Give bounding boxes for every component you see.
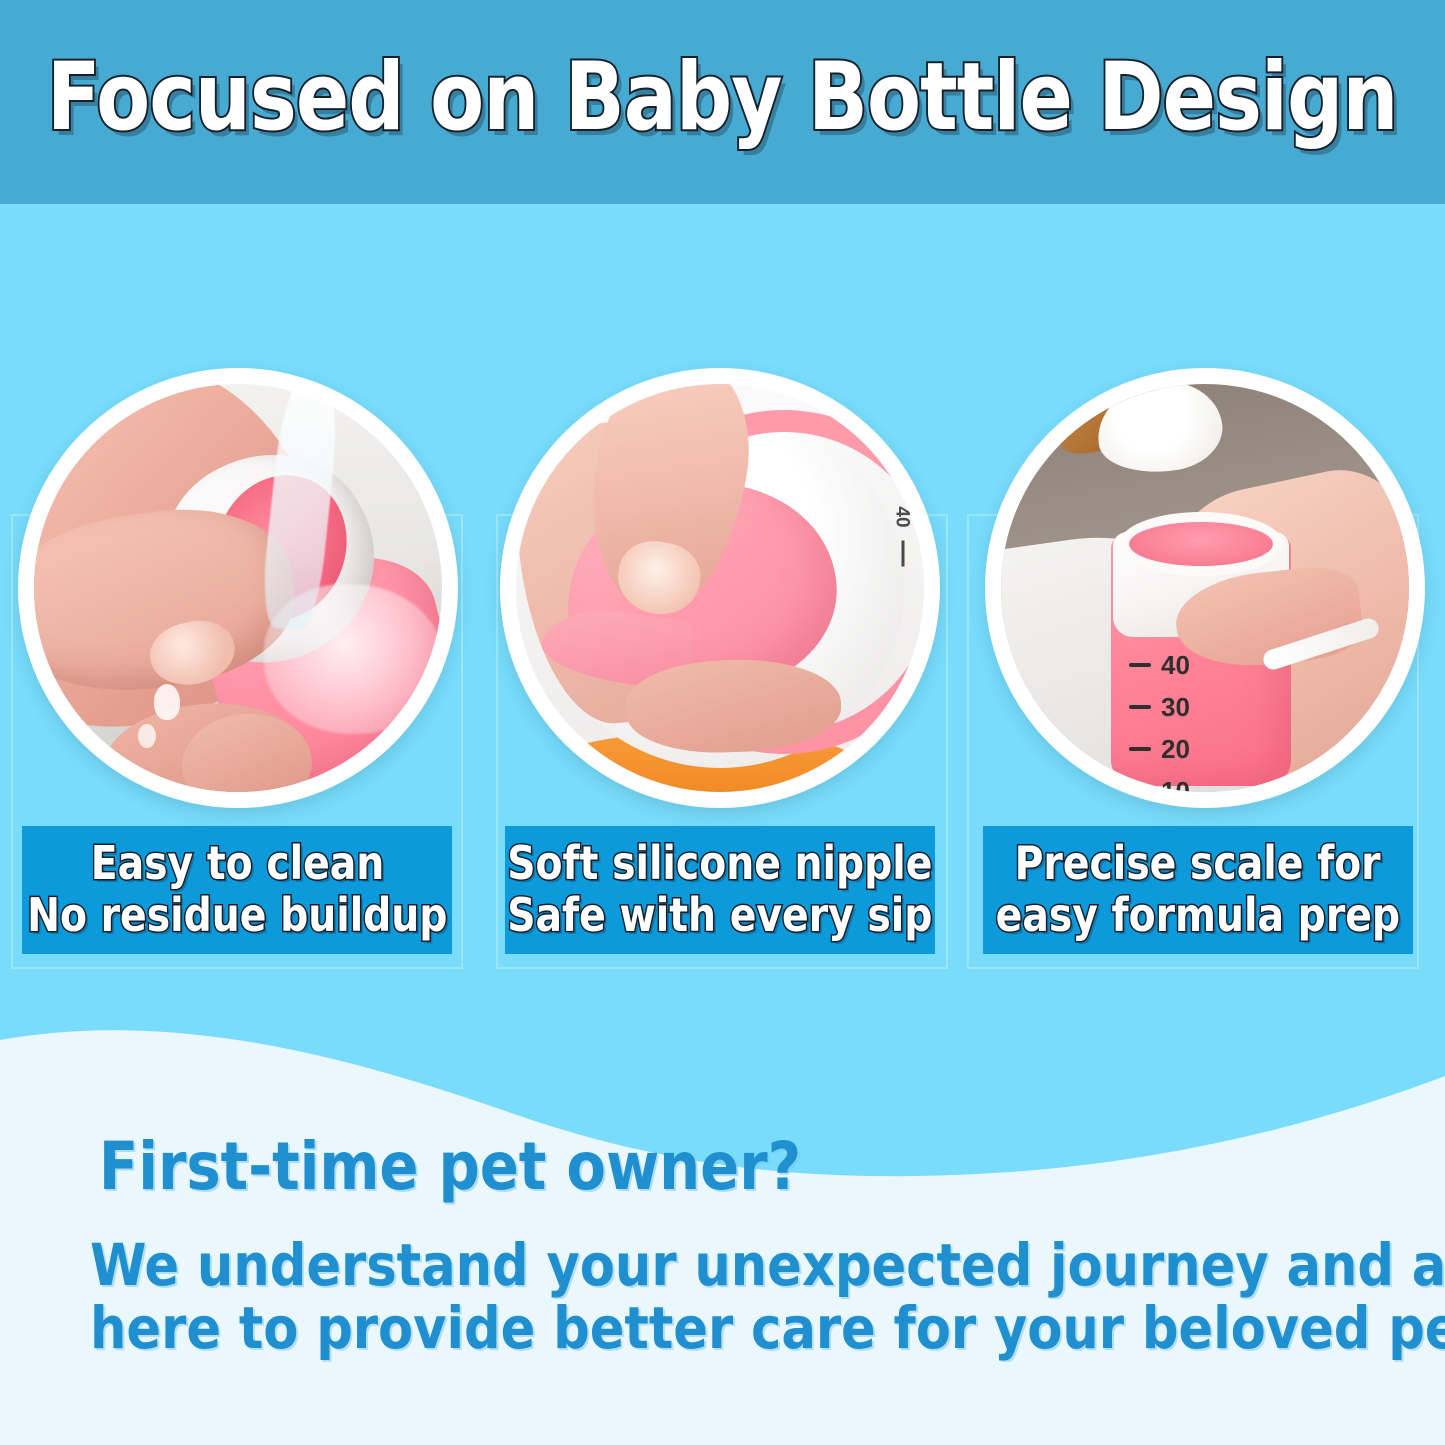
feature-caption-3: Precise scale for easy formula prep bbox=[983, 826, 1413, 954]
scale-value: 10 bbox=[1161, 778, 1190, 792]
caption-line-1: Soft silicone nipple bbox=[507, 838, 932, 890]
measurement-scale: 40 30 20 10 bbox=[1129, 652, 1190, 792]
feature-photo-2: 40 bbox=[500, 368, 940, 808]
ring-tick-mark bbox=[902, 541, 905, 567]
feature-photo-1-image bbox=[34, 384, 442, 792]
feature-photo-1 bbox=[18, 368, 458, 808]
feature-photo-3: 40 30 20 10 bbox=[985, 368, 1425, 808]
water-drop-1 bbox=[154, 684, 180, 720]
bottle-rim bbox=[1119, 512, 1283, 576]
caption-line-1: Precise scale for bbox=[1015, 838, 1381, 890]
product-infographic: Focused on Baby Bottle Design bbox=[0, 0, 1445, 1445]
water-drop-2 bbox=[138, 724, 156, 748]
scale-value: 20 bbox=[1161, 736, 1190, 762]
bottom-message: First-time pet owner? We understand your… bbox=[0, 1000, 1445, 1445]
scale-tick-icon bbox=[1129, 747, 1151, 751]
scale-value: 40 bbox=[1161, 652, 1190, 678]
scale-tick-icon bbox=[1129, 705, 1151, 709]
bottom-heading: First-time pet owner? bbox=[99, 1134, 801, 1200]
caption-line-1: Easy to clean bbox=[90, 838, 384, 890]
caption-line-2: Safe with every sip bbox=[507, 890, 932, 942]
scale-value: 30 bbox=[1161, 694, 1190, 720]
feature-caption-2: Soft silicone nipple Safe with every sip bbox=[505, 826, 935, 954]
scale-row: 20 bbox=[1129, 736, 1190, 762]
caption-line-2: No residue buildup bbox=[27, 890, 447, 942]
caption-line-2: easy formula prep bbox=[996, 890, 1400, 942]
scale-tick-icon bbox=[1129, 789, 1151, 792]
bottom-body-line-2: here to provide better care for your bel… bbox=[90, 1297, 1335, 1360]
scale-tick-icon bbox=[1129, 663, 1151, 667]
scale-row: 40 bbox=[1129, 652, 1190, 678]
ring-mark-label: 40 bbox=[890, 506, 912, 527]
bottom-body: We understand your unexpected journey an… bbox=[90, 1234, 1360, 1359]
feature-photo-2-image: 40 bbox=[516, 384, 924, 792]
bottom-body-line-1: We understand your unexpected journey an… bbox=[90, 1234, 1335, 1297]
feature-caption-1: Easy to clean No residue buildup bbox=[22, 826, 452, 954]
scale-row: 10 bbox=[1129, 778, 1190, 792]
scale-row: 30 bbox=[1129, 694, 1190, 720]
feature-photo-3-image: 40 30 20 10 bbox=[1001, 384, 1409, 792]
